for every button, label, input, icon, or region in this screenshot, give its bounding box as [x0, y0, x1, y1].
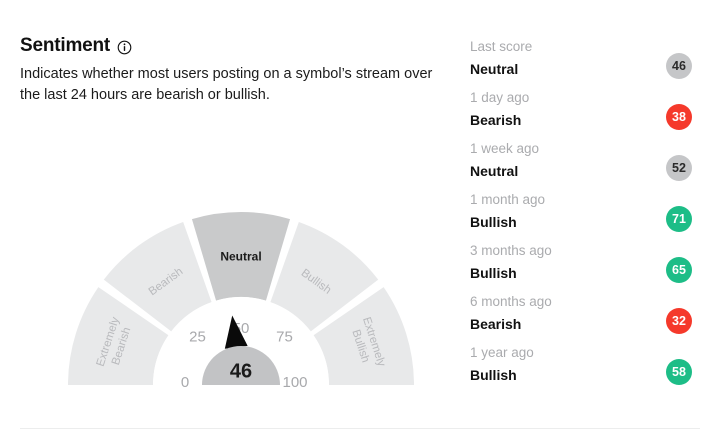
history-timeframe: 1 year ago: [470, 344, 692, 361]
history-row: 1 year agoBullish58: [470, 344, 692, 395]
sentiment-widget: Sentiment Indicates whether most users p…: [0, 0, 720, 438]
sentiment-header: Sentiment Indicates whether most users p…: [20, 34, 460, 106]
history-row: 6 months agoBearish32: [470, 293, 692, 344]
gauge-tick-label: 0: [181, 374, 189, 391]
history-row: 1 day agoBearish38: [470, 89, 692, 140]
gauge-segment-label-line: Neutral: [220, 250, 261, 264]
title-row: Sentiment: [20, 34, 460, 58]
bottom-divider: [20, 428, 700, 429]
history-score-badge: 46: [666, 53, 692, 79]
history-score-badge: 32: [666, 308, 692, 334]
history-timeframe: 1 day ago: [470, 89, 692, 106]
history-timeframe: 1 week ago: [470, 140, 692, 157]
gauge-value-text: 46: [230, 360, 252, 382]
history-score-badge: 65: [666, 257, 692, 283]
history-sentiment-label: Bullish: [470, 259, 692, 283]
history-timeframe: 1 month ago: [470, 191, 692, 208]
history-score-badge: 38: [666, 104, 692, 130]
sentiment-gauge: ExtremelyBearishBearishNeutralBullishExt…: [48, 198, 438, 394]
history-sentiment-label: Neutral: [470, 157, 692, 181]
info-circle-icon[interactable]: [117, 40, 132, 55]
history-timeframe: 6 months ago: [470, 293, 692, 310]
gauge-tick-label: 100: [282, 374, 307, 391]
history-row: 3 months agoBullish65: [470, 242, 692, 293]
history-score-badge: 52: [666, 155, 692, 181]
history-score-badge: 58: [666, 359, 692, 385]
gauge-svg: ExtremelyBearishBearishNeutralBullishExt…: [48, 198, 438, 394]
history-score-badge: 71: [666, 206, 692, 232]
history-timeframe: 3 months ago: [470, 242, 692, 259]
sentiment-description: Indicates whether most users posting on …: [20, 64, 440, 106]
page-title: Sentiment: [20, 35, 110, 57]
history-row: 1 month agoBullish71: [470, 191, 692, 242]
history-row: Last scoreNeutral46: [470, 38, 692, 89]
history-sentiment-label: Bearish: [470, 106, 692, 130]
gauge-tick-label: 75: [276, 328, 293, 345]
history-sentiment-label: Neutral: [470, 55, 692, 79]
history-sentiment-label: Bullish: [470, 361, 692, 385]
gauge-tick-label: 25: [189, 328, 206, 345]
history-sentiment-label: Bullish: [470, 208, 692, 232]
gauge-segment-label: Neutral: [220, 250, 261, 264]
history-timeframe: Last score: [470, 38, 692, 55]
history-row: 1 week agoNeutral52: [470, 140, 692, 191]
history-sentiment-label: Bearish: [470, 310, 692, 334]
sentiment-history-list: Last scoreNeutral461 day agoBearish381 w…: [470, 38, 692, 395]
